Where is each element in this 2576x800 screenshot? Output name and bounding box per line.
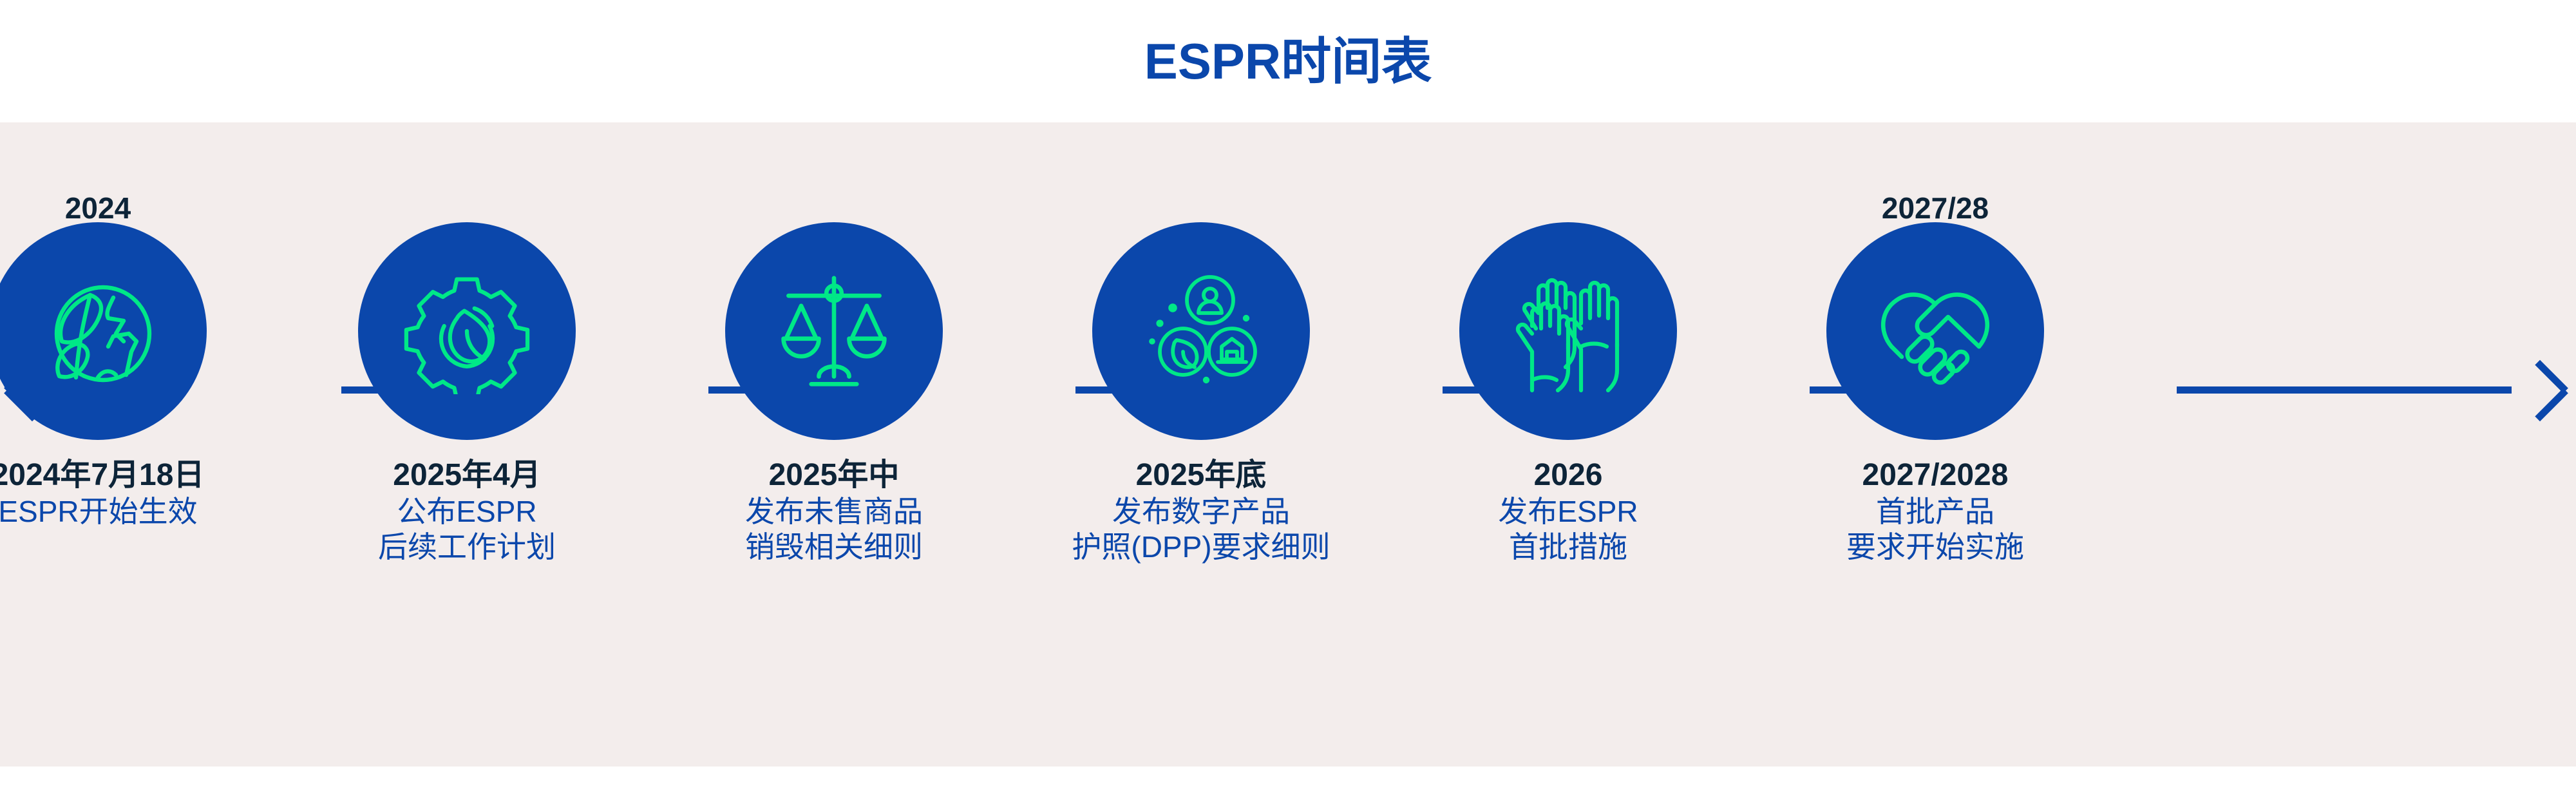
node-4-line-2: 护照(DPP)要求细则 xyxy=(1014,529,1388,565)
node-5-icon-circle[interactable] xyxy=(1459,222,1677,440)
timeline-band xyxy=(0,122,2576,767)
node-2-line-1: 公布ESPR xyxy=(306,494,628,529)
node-4-line-1: 发布数字产品 xyxy=(1014,494,1388,529)
node-2-line-2: 后续工作计划 xyxy=(306,529,628,565)
node-5-caption: 2026 发布ESPR 首批措施 xyxy=(1407,457,1729,565)
raised-hands-icon xyxy=(1504,267,1633,395)
node-6-line-1: 首批产品 xyxy=(1765,494,2106,529)
esg-circles-icon xyxy=(1137,267,1265,395)
node-1-heading: 2024年7月18日 xyxy=(0,457,259,494)
node-4-caption: 2025年底 发布数字产品 护照(DPP)要求细则 xyxy=(1014,457,1388,565)
node-4-heading: 2025年底 xyxy=(1014,457,1388,494)
gear-leaf-icon xyxy=(404,268,530,394)
node-3-line-2: 销毁相关细则 xyxy=(673,529,995,565)
globe-leaf-icon xyxy=(33,267,162,395)
rail-segment-right xyxy=(2177,386,2512,394)
node-1-line-1: ESPR开始生效 xyxy=(0,494,259,529)
arrow-right-icon xyxy=(2526,368,2570,412)
node-3-heading: 2025年中 xyxy=(673,457,995,494)
node-1-caption: 2024年7月18日 ESPR开始生效 xyxy=(0,457,259,529)
page-title: ESPR时间表 xyxy=(1144,36,1432,86)
node-5-line-2: 首批措施 xyxy=(1407,529,1729,565)
node-2-heading: 2025年4月 xyxy=(306,457,628,494)
node-6-line-2: 要求开始实施 xyxy=(1765,529,2106,565)
node-2-icon-circle[interactable] xyxy=(358,222,576,440)
scales-balance-icon xyxy=(771,268,897,394)
title-bar: ESPR时间表 xyxy=(0,0,2576,122)
node-3-line-1: 发布未售商品 xyxy=(673,494,995,529)
node-3-caption: 2025年中 发布未售商品 销毁相关细则 xyxy=(673,457,995,565)
handshake-icon xyxy=(1871,267,2000,395)
node-3-icon-circle[interactable] xyxy=(725,222,943,440)
node-6-heading: 2027/2028 xyxy=(1765,457,2106,494)
node-6-icon-circle[interactable] xyxy=(1826,222,2044,440)
node-5-heading: 2026 xyxy=(1407,457,1729,494)
node-1-year-label: 2024 xyxy=(0,193,233,223)
node-4-icon-circle[interactable] xyxy=(1092,222,1310,440)
node-5-line-1: 发布ESPR xyxy=(1407,494,1729,529)
node-6-caption: 2027/2028 首批产品 要求开始实施 xyxy=(1765,457,2106,565)
node-6-year-label: 2027/28 xyxy=(1800,193,2070,223)
node-2-caption: 2025年4月 公布ESPR 后续工作计划 xyxy=(306,457,628,565)
